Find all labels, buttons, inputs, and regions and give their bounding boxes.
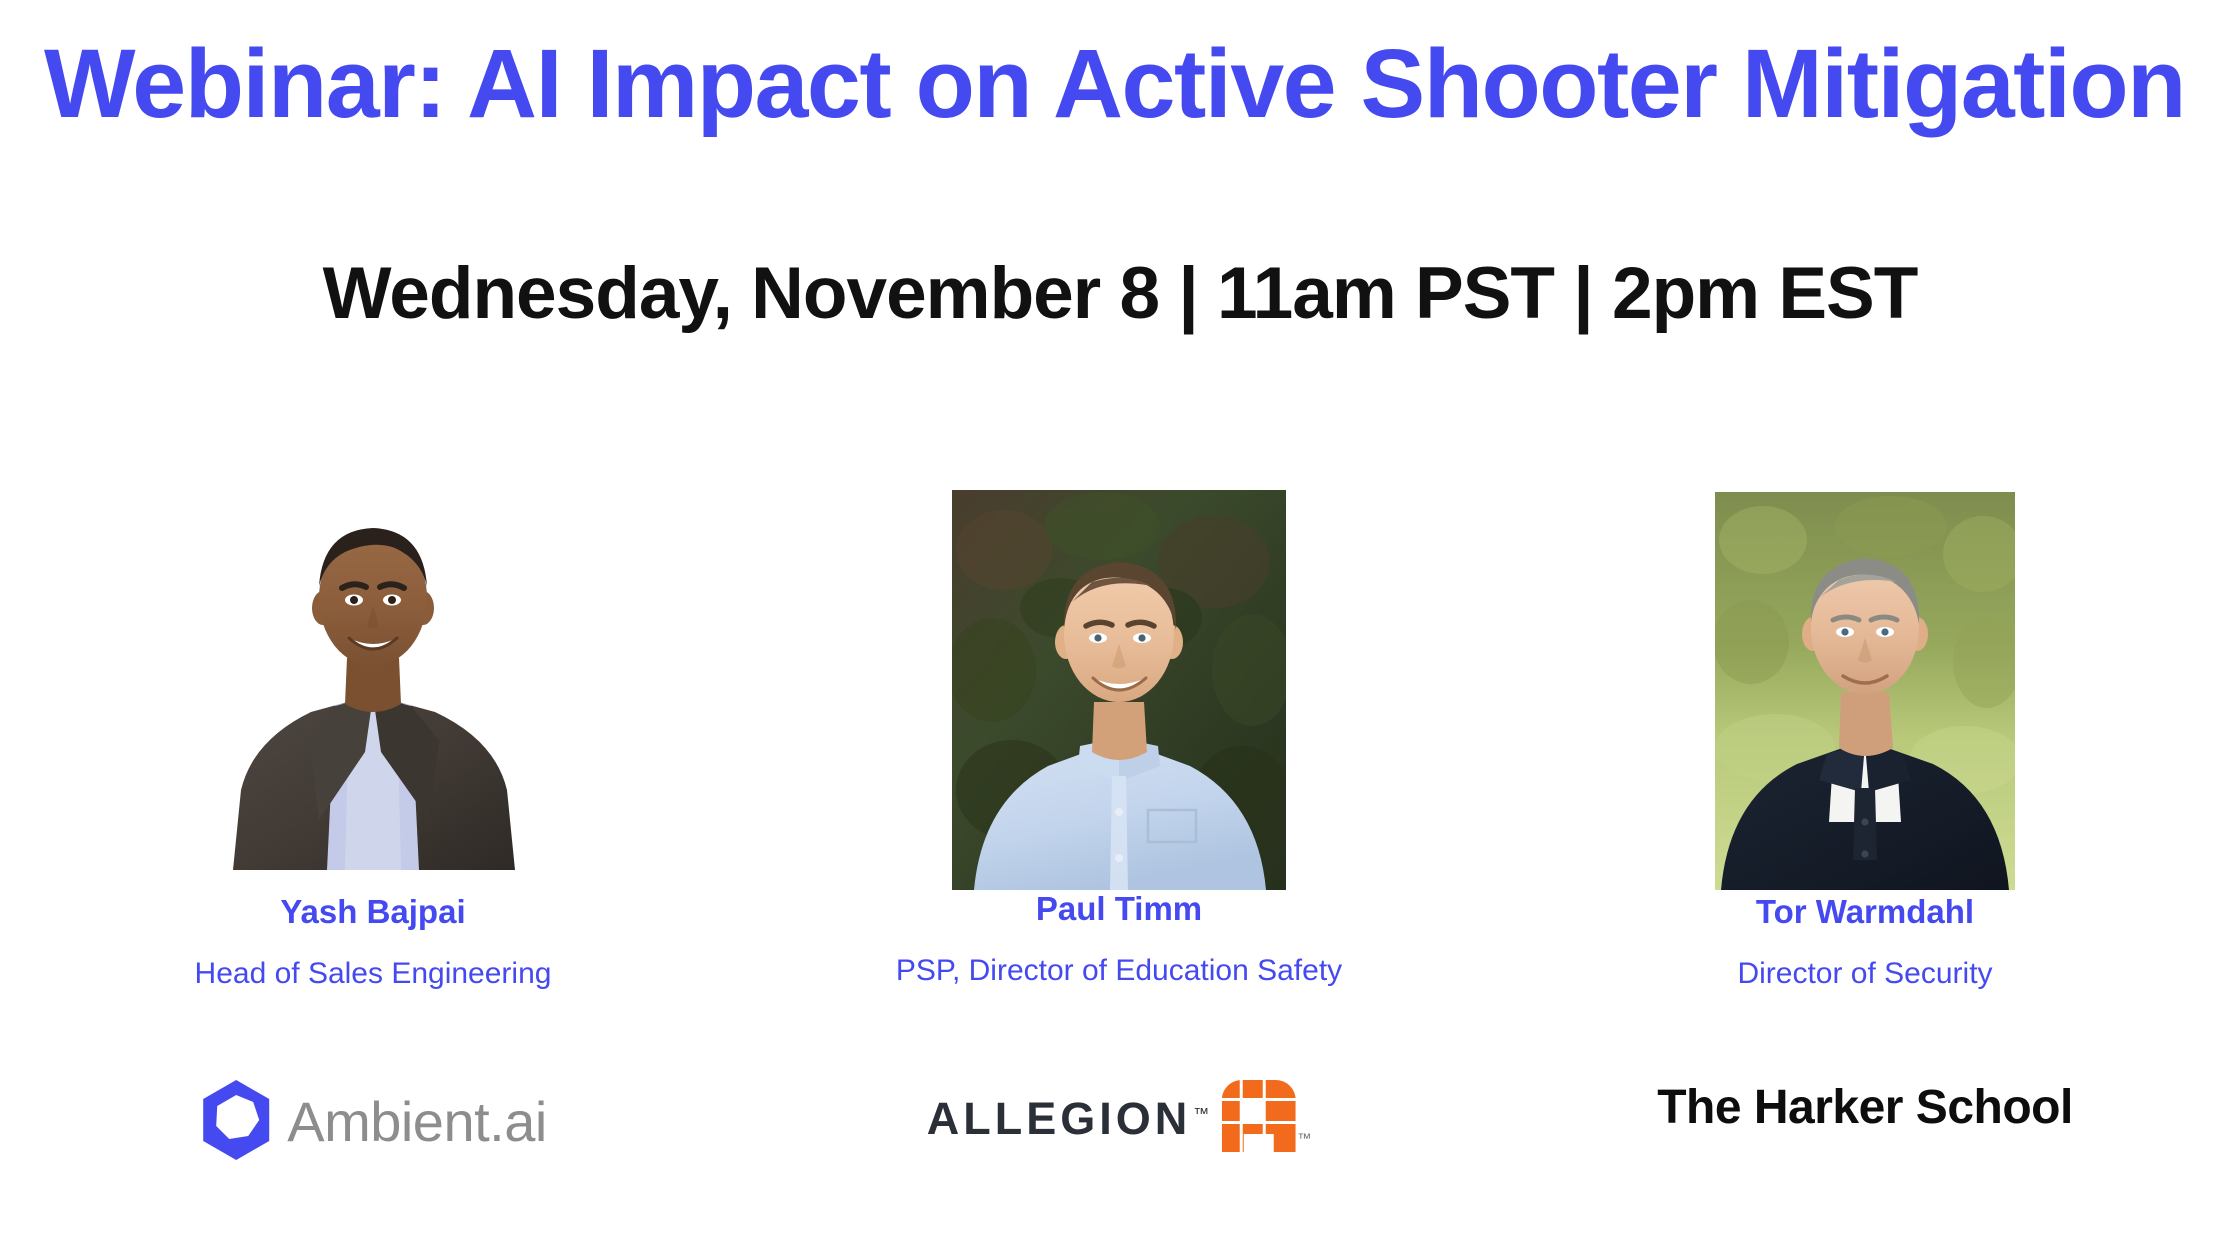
organization-logo-harker: The Harker School — [1492, 1072, 2238, 1192]
speaker-role: Head of Sales Engineering — [0, 957, 746, 991]
allegion-a-block-icon — [1209, 1078, 1295, 1152]
avatar — [1715, 492, 2015, 890]
ambient-hexagon-icon — [199, 1078, 273, 1162]
organization-logo-allegion: ALLEGION ™ — [746, 1072, 1492, 1192]
speaker-name: Tor Warmdahl — [1492, 893, 2238, 931]
organization-logos: Ambient.ai ALLEGION ™ — [0, 1072, 2240, 1192]
page-title: Webinar: AI Impact on Active Shooter Mit… — [44, 28, 2194, 140]
webinar-datetime: Wednesday, November 8 | 11am PST | 2pm E… — [0, 252, 2240, 335]
allegion-wordmark-trademark-icon: ™ — [1193, 1106, 1209, 1124]
speaker-role: Director of Security — [1492, 957, 2238, 991]
harker-wordmark: The Harker School — [1657, 1084, 2073, 1132]
avatar — [952, 490, 1286, 890]
speaker-list: Yash Bajpai Head of Sales Engineering — [0, 470, 2240, 930]
allegion-wordmark: ALLEGION — [927, 1096, 1192, 1141]
speaker-card: Tor Warmdahl Director of Security — [1492, 470, 2238, 930]
allegion-mark-trademark-icon: ™ — [1297, 1130, 1311, 1146]
organization-logo-ambient: Ambient.ai — [0, 1072, 746, 1192]
speaker-role: PSP, Director of Education Safety — [746, 954, 1492, 988]
speaker-name: Paul Timm — [746, 890, 1492, 928]
ambient-wordmark: Ambient.ai — [287, 1094, 547, 1150]
avatar — [223, 490, 523, 870]
speaker-card: Yash Bajpai Head of Sales Engineering — [0, 470, 746, 930]
speaker-card: Paul Timm PSP, Director of Education Saf… — [746, 470, 1492, 930]
speaker-name: Yash Bajpai — [0, 893, 746, 931]
